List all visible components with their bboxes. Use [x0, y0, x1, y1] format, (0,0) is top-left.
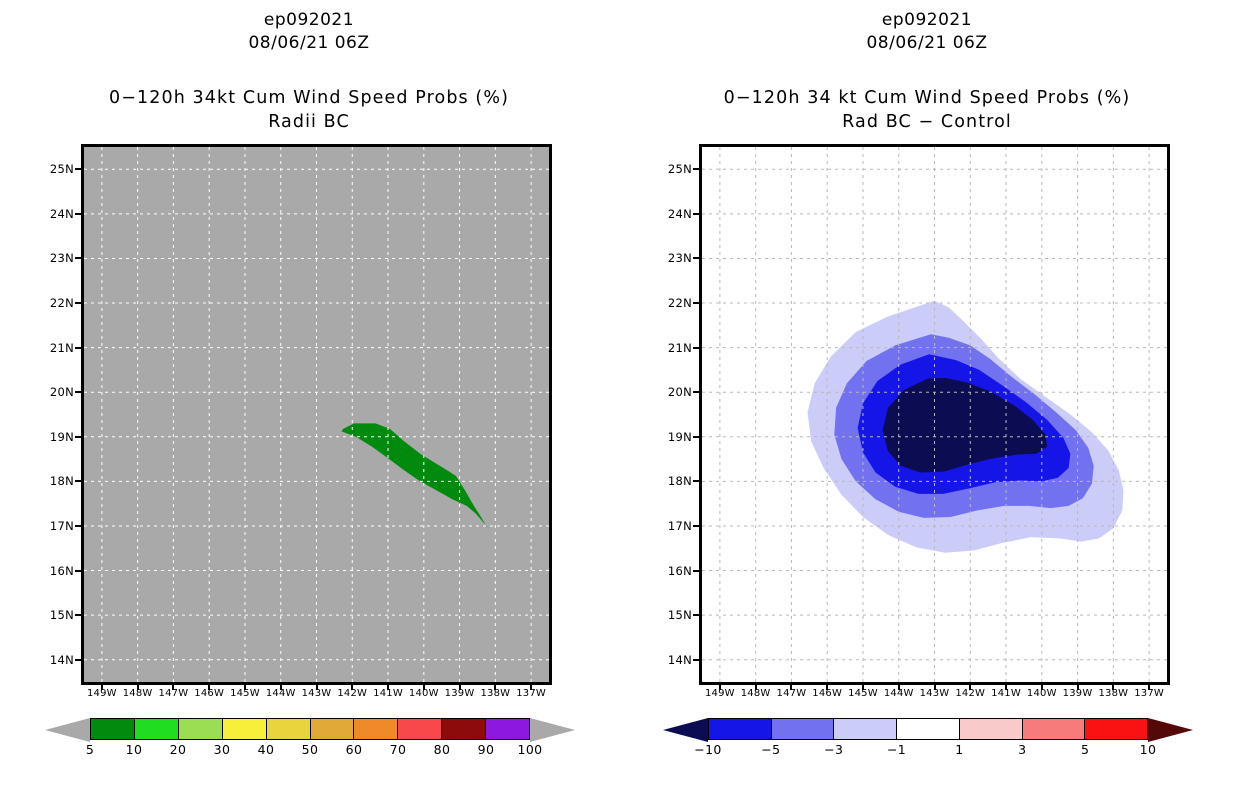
y-axis-label: 16N — [658, 564, 692, 578]
colorbar-swatch-1 — [135, 719, 179, 739]
y-axis-tick — [693, 480, 699, 482]
colorbar-swatch-3 — [897, 719, 960, 739]
right-plot-inner — [702, 147, 1167, 682]
colorbar-swatch-4 — [267, 719, 311, 739]
right-colorbar-ticks: −10−5−3−113510 — [663, 742, 1193, 764]
colorbar-tick-label: 60 — [332, 742, 376, 757]
y-axis-tick — [75, 213, 81, 215]
colorbar-tick-label: 30 — [200, 742, 244, 757]
y-axis-label: 19N — [658, 430, 692, 444]
colorbar-tick-label: 80 — [420, 742, 464, 757]
y-axis-tick — [693, 347, 699, 349]
colorbar-tick-label: 1 — [937, 742, 981, 757]
y-axis-tick — [693, 436, 699, 438]
x-axis-tick — [387, 684, 389, 690]
y-axis-tick — [75, 302, 81, 304]
left-datetime: 08/06/21 06Z — [0, 33, 618, 53]
y-axis-label: 15N — [658, 608, 692, 622]
x-axis-tick — [494, 684, 496, 690]
left-map-canvas — [84, 147, 549, 682]
colorbar-swatch-3 — [223, 719, 267, 739]
y-axis-label: 18N — [658, 474, 692, 488]
left-plot-area — [81, 144, 552, 685]
x-axis-tick — [244, 684, 246, 690]
left-colorbar: 5102030405060708090100 — [45, 713, 575, 783]
panel-right: ep092021 08/06/21 06Z 0−120h 34 kt Cum W… — [618, 0, 1236, 800]
x-axis-tick — [969, 684, 971, 690]
y-axis-tick — [693, 257, 699, 259]
colorbar-swatch-4 — [960, 719, 1023, 739]
y-axis-label: 24N — [40, 207, 74, 221]
y-axis-label: 22N — [40, 296, 74, 310]
panel-left: ep092021 08/06/21 06Z 0−120h 34kt Cum Wi… — [0, 0, 618, 800]
x-axis-tick — [862, 684, 864, 690]
x-axis-tick — [1005, 684, 1007, 690]
y-axis-label: 21N — [658, 341, 692, 355]
y-axis-label: 17N — [40, 519, 74, 533]
right-subtitle: Rad BC − Control — [618, 112, 1236, 132]
colorbar-tick-label: 70 — [376, 742, 420, 757]
left-probability-polygon — [342, 423, 491, 529]
colorbar-under-arrow — [45, 718, 90, 742]
x-axis-tick — [423, 684, 425, 690]
right-storm-id: ep092021 — [618, 10, 1236, 30]
colorbar-tick-label: 5 — [1063, 742, 1107, 757]
colorbar-tick-label: 20 — [156, 742, 200, 757]
colorbar-tick-label: 3 — [1000, 742, 1044, 757]
colorbar-tick-label: −3 — [812, 742, 856, 757]
left-plot-inner — [84, 147, 549, 682]
left-colorbar-swatches — [90, 718, 530, 740]
x-axis-tick — [898, 684, 900, 690]
x-axis-tick — [316, 684, 318, 690]
y-axis-label: 15N — [40, 608, 74, 622]
x-axis-tick — [934, 684, 936, 690]
y-axis-label: 25N — [658, 162, 692, 176]
x-axis-tick — [826, 684, 828, 690]
y-axis-tick — [75, 347, 81, 349]
colorbar-swatch-0 — [91, 719, 135, 739]
y-axis-label: 17N — [658, 519, 692, 533]
colorbar-over-arrow — [530, 718, 575, 742]
right-colorbar-swatches — [708, 718, 1148, 740]
right-datetime: 08/06/21 06Z — [618, 33, 1236, 53]
y-axis-tick — [693, 570, 699, 572]
left-colorbar-ticks: 5102030405060708090100 — [45, 742, 575, 764]
colorbar-tick-label: 40 — [244, 742, 288, 757]
colorbar-swatch-9 — [486, 719, 529, 739]
x-axis-tick — [1041, 684, 1043, 690]
right-colorbar: −10−5−3−113510 — [663, 713, 1193, 783]
colorbar-swatch-6 — [354, 719, 398, 739]
left-title: 0−120h 34kt Cum Wind Speed Probs (%) — [0, 88, 618, 108]
y-axis-tick — [693, 391, 699, 393]
x-axis-tick — [790, 684, 792, 690]
y-axis-tick — [693, 525, 699, 527]
y-axis-label: 16N — [40, 564, 74, 578]
colorbar-under-arrow — [663, 718, 708, 742]
colorbar-tick-label: −5 — [749, 742, 793, 757]
x-axis-tick — [280, 684, 282, 690]
colorbar-over-arrow — [1148, 718, 1193, 742]
y-axis-tick — [693, 213, 699, 215]
y-axis-label: 22N — [658, 296, 692, 310]
x-axis-tick — [530, 684, 532, 690]
colorbar-tick-label: 90 — [464, 742, 508, 757]
y-axis-tick — [75, 614, 81, 616]
screenshot-root: ep092021 08/06/21 06Z 0−120h 34kt Cum Wi… — [0, 0, 1236, 800]
x-axis-tick — [101, 684, 103, 690]
right-plot-area — [699, 144, 1170, 685]
y-axis-label: 20N — [658, 385, 692, 399]
probability-contour-5-10 — [342, 423, 491, 529]
y-axis-label: 24N — [658, 207, 692, 221]
y-axis-tick — [693, 659, 699, 661]
colorbar-swatch-2 — [179, 719, 223, 739]
x-axis-tick — [137, 684, 139, 690]
y-axis-label: 21N — [40, 341, 74, 355]
y-axis-tick — [75, 168, 81, 170]
x-axis-tick — [719, 684, 721, 690]
colorbar-swatch-1 — [772, 719, 835, 739]
y-axis-label: 20N — [40, 385, 74, 399]
colorbar-tick-label: 50 — [288, 742, 332, 757]
y-axis-label: 23N — [658, 251, 692, 265]
y-axis-label: 25N — [40, 162, 74, 176]
y-axis-label: 19N — [40, 430, 74, 444]
y-axis-tick — [693, 168, 699, 170]
left-gridlines — [84, 147, 549, 682]
x-axis-tick — [1148, 684, 1150, 690]
x-axis-tick — [1112, 684, 1114, 690]
colorbar-swatch-7 — [398, 719, 442, 739]
colorbar-swatch-8 — [442, 719, 486, 739]
y-axis-tick — [693, 302, 699, 304]
colorbar-swatch-6 — [1085, 719, 1147, 739]
colorbar-swatch-5 — [1023, 719, 1086, 739]
x-axis-tick — [755, 684, 757, 690]
y-axis-label: 23N — [40, 251, 74, 265]
colorbar-tick-label: −10 — [686, 742, 730, 757]
y-axis-tick — [75, 570, 81, 572]
x-axis-tick — [172, 684, 174, 690]
y-axis-label: 14N — [658, 653, 692, 667]
colorbar-swatch-0 — [709, 719, 772, 739]
x-axis-tick — [351, 684, 353, 690]
right-difference-contours — [808, 301, 1124, 553]
y-axis-tick — [75, 257, 81, 259]
y-axis-tick — [75, 480, 81, 482]
right-gridlines — [702, 147, 1167, 682]
colorbar-swatch-2 — [834, 719, 897, 739]
colorbar-tick-label: 10 — [112, 742, 156, 757]
colorbar-tick-label: 100 — [508, 742, 552, 757]
colorbar-tick-label: −1 — [875, 742, 919, 757]
left-subtitle: Radii BC — [0, 112, 618, 132]
colorbar-swatch-5 — [311, 719, 355, 739]
y-axis-tick — [75, 659, 81, 661]
colorbar-tick-label: 10 — [1126, 742, 1170, 757]
y-axis-label: 14N — [40, 653, 74, 667]
y-axis-tick — [693, 614, 699, 616]
right-title: 0−120h 34 kt Cum Wind Speed Probs (%) — [618, 88, 1236, 108]
left-storm-id: ep092021 — [0, 10, 618, 30]
y-axis-tick — [75, 436, 81, 438]
colorbar-tick-label: 5 — [68, 742, 112, 757]
x-axis-tick — [208, 684, 210, 690]
y-axis-tick — [75, 391, 81, 393]
y-axis-tick — [75, 525, 81, 527]
y-axis-label: 18N — [40, 474, 74, 488]
x-axis-tick — [1077, 684, 1079, 690]
right-map-canvas — [702, 147, 1167, 682]
x-axis-tick — [459, 684, 461, 690]
